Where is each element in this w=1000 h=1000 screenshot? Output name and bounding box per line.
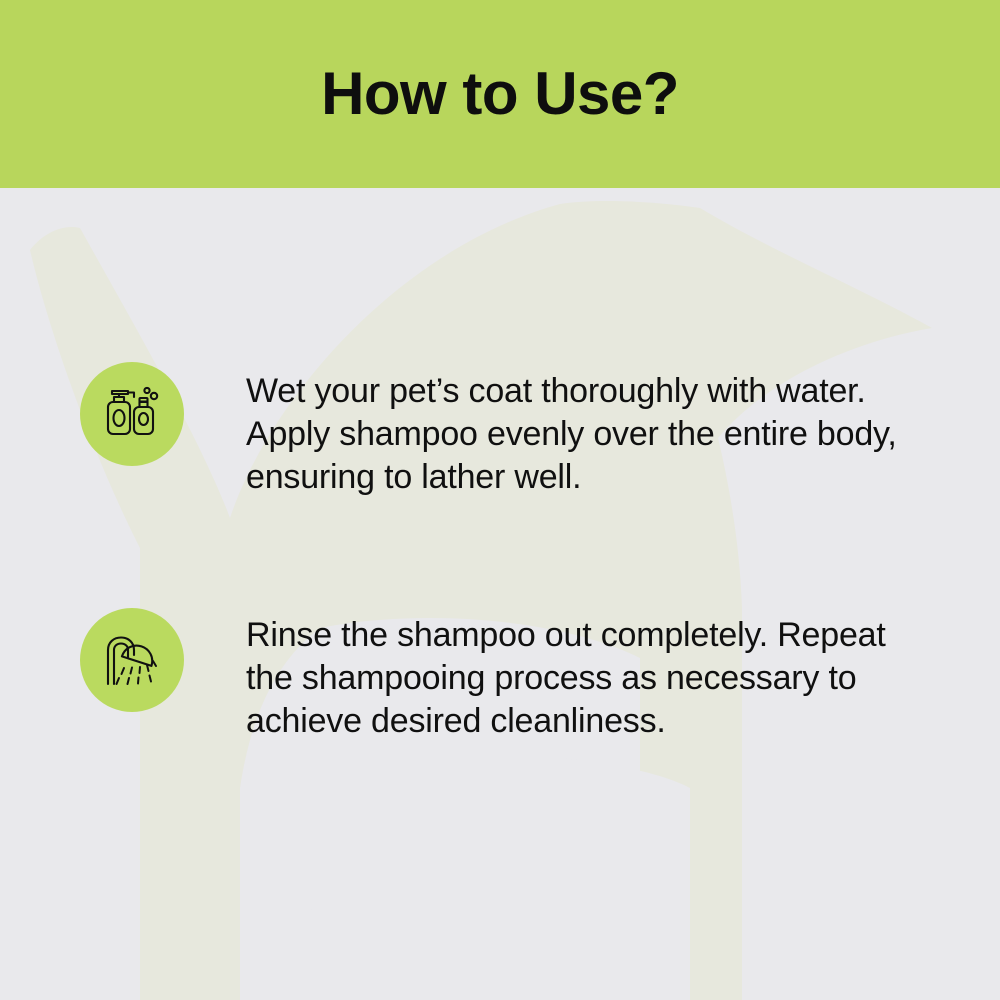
header-band: How to Use? — [0, 0, 1000, 188]
step-item-2: Rinse the shampoo out completely. Repeat… — [80, 608, 916, 743]
step-2-text: Rinse the shampoo out completely. Repeat… — [246, 608, 916, 743]
step-2-icon-badge — [80, 608, 184, 712]
step-1-icon-badge — [80, 362, 184, 466]
page-title: How to Use? — [321, 64, 679, 124]
steps-list: Wet your pet’s coat thoroughly with wate… — [0, 188, 1000, 1000]
shampoo-bottles-icon — [101, 383, 163, 445]
step-1-text: Wet your pet’s coat thoroughly with wate… — [246, 362, 916, 499]
step-item-1: Wet your pet’s coat thoroughly with wate… — [80, 362, 916, 499]
poster-canvas: How to Use? — [0, 0, 1000, 1000]
shower-head-icon — [101, 629, 163, 691]
